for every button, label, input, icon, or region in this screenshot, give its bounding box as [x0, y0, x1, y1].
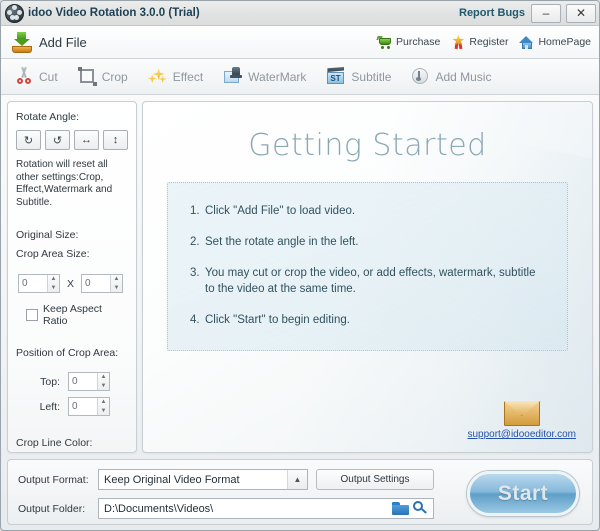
support-block: support@idooeditor.com [467, 401, 576, 440]
getting-started-panel: Getting Started 1. Click "Add File" to l… [142, 101, 593, 453]
step-number: 4. [190, 312, 205, 328]
output-bar: Output Format: Keep Original Video Forma… [7, 459, 593, 525]
register-label: Register [469, 36, 508, 48]
search-icon[interactable] [412, 501, 428, 517]
crop-size-row: ▲▼ X ▲▼ [18, 274, 128, 293]
rotation-note: Rotation will reset all other settings:C… [16, 159, 128, 209]
flip-vertical-icon[interactable]: ↕ [103, 130, 128, 150]
start-button-wrap: Start [464, 469, 582, 516]
step-text: You may cut or crop the video, or add ef… [205, 265, 545, 297]
step-number: 1. [190, 203, 205, 219]
settings-sidebar: Rotate Angle: ↻ ↺ ↔ ↕ Rotation will rese… [7, 101, 137, 453]
star-badge-icon [451, 35, 465, 49]
scissors-icon [15, 67, 34, 86]
rotate-button-group: ↻ ↺ ↔ ↕ [16, 130, 128, 150]
step-item: 2. Set the rotate angle in the left. [190, 234, 545, 250]
flip-horizontal-icon[interactable]: ↔ [74, 130, 99, 150]
crop-top-arrows[interactable]: ▲▼ [97, 373, 109, 390]
crop-top-stepper[interactable]: ▲▼ [68, 372, 110, 391]
title-bar-controls: Report Bugs – ✕ [459, 4, 596, 23]
step-item: 4. Click "Start" to begin editing. [190, 312, 545, 328]
minimize-button[interactable]: – [531, 4, 561, 23]
tool-watermark-label: WaterMark [248, 70, 306, 84]
homepage-link[interactable]: HomePage [519, 35, 591, 49]
output-fields: Output Format: Keep Original Video Forma… [18, 469, 454, 519]
output-settings-button[interactable]: Output Settings [316, 469, 434, 490]
crop-height-input[interactable] [82, 275, 110, 292]
step-text: Set the rotate angle in the left. [205, 234, 545, 250]
crop-left-input[interactable] [69, 398, 97, 415]
step-item: 3. You may cut or crop the video, or add… [190, 265, 545, 297]
support-email-link[interactable]: support@idooeditor.com [467, 429, 576, 440]
tool-effect[interactable]: Effect [140, 64, 211, 89]
film-reel-icon [5, 4, 24, 23]
tool-add-music-label: Add Music [435, 70, 491, 84]
folder-icon[interactable] [392, 502, 409, 515]
output-format-row: Output Format: Keep Original Video Forma… [18, 469, 454, 490]
tool-subtitle[interactable]: ST Subtitle [318, 64, 399, 89]
crop-width-stepper[interactable]: ▲▼ [18, 274, 60, 293]
clapperboard-icon: ST [326, 67, 346, 86]
header-links: Purchase Register HomePage [377, 35, 591, 49]
step-number: 3. [190, 265, 205, 297]
crop-left-arrows[interactable]: ▲▼ [97, 398, 109, 415]
start-button-label: Start [498, 482, 548, 506]
add-file-icon [11, 31, 33, 53]
output-format-dropdown[interactable]: Keep Original Video Format ▲ [98, 469, 308, 490]
crop-top-label: Top: [16, 376, 68, 388]
output-format-label: Output Format: [18, 474, 90, 486]
rotate-angle-label: Rotate Angle: [16, 111, 128, 123]
tool-crop-label: Crop [102, 70, 128, 84]
tool-cut-label: Cut [39, 70, 58, 84]
original-size-label: Original Size: [16, 229, 128, 241]
application-window: idoo Video Rotation 3.0.0 (Trial) Report… [0, 0, 600, 531]
register-link[interactable]: Register [451, 35, 508, 49]
crop-width-arrows[interactable]: ▲▼ [47, 275, 59, 292]
crop-frame-icon [78, 67, 97, 86]
tool-crop[interactable]: Crop [70, 64, 136, 89]
window-title: idoo Video Rotation 3.0.0 (Trial) [28, 7, 200, 19]
output-folder-row: Output Folder: D:\Documents\Videos\ [18, 498, 454, 519]
homepage-label: HomePage [538, 36, 591, 48]
output-folder-label: Output Folder: [18, 503, 90, 515]
crop-left-row: Left: ▲▼ [16, 397, 128, 416]
crop-height-arrows[interactable]: ▲▼ [110, 275, 122, 292]
tool-effect-label: Effect [173, 70, 203, 84]
crop-top-input[interactable] [69, 373, 97, 390]
tool-subtitle-label: Subtitle [351, 70, 391, 84]
add-file-bar: Add File Purchase Register HomePage [1, 26, 599, 59]
step-number: 2. [190, 234, 205, 250]
size-separator: X [67, 278, 74, 290]
title-bar: idoo Video Rotation 3.0.0 (Trial) Report… [1, 1, 599, 26]
watermark-stamp-icon [223, 67, 243, 86]
keep-aspect-ratio-checkbox[interactable] [26, 309, 38, 321]
steps-box: 1. Click "Add File" to load video. 2. Se… [167, 182, 568, 351]
crop-height-stepper[interactable]: ▲▼ [81, 274, 123, 293]
close-button[interactable]: ✕ [566, 4, 596, 23]
add-file-label: Add File [39, 35, 87, 50]
output-folder-input[interactable]: D:\Documents\Videos\ [98, 498, 434, 519]
keep-aspect-ratio-row[interactable]: Keep Aspect Ratio [26, 303, 128, 327]
rotate-right-icon[interactable]: ↻ [16, 130, 41, 150]
home-icon [519, 35, 534, 49]
step-item: 1. Click "Add File" to load video. [190, 203, 545, 219]
crop-line-color-label: Crop Line Color: [16, 437, 128, 449]
tool-add-music[interactable]: Add Music [403, 64, 499, 89]
report-bugs-link[interactable]: Report Bugs [459, 7, 525, 19]
output-folder-value: D:\Documents\Videos\ [99, 503, 392, 515]
rotate-left-icon[interactable]: ↺ [45, 130, 70, 150]
music-note-icon [411, 67, 430, 86]
crop-area-size-label: Crop Area Size: [16, 248, 128, 260]
crop-left-stepper[interactable]: ▲▼ [68, 397, 110, 416]
tool-menu: Cut Crop Effect WaterMark ST Subtitle [1, 59, 599, 95]
step-text: Click "Start" to begin editing. [205, 312, 545, 328]
add-file-button[interactable]: Add File [11, 31, 87, 53]
purchase-link[interactable]: Purchase [377, 35, 440, 49]
crop-top-row: Top: ▲▼ [16, 372, 128, 391]
crop-left-label: Left: [16, 401, 68, 413]
step-text: Click "Add File" to load video. [205, 203, 545, 219]
content-area: Rotate Angle: ↻ ↺ ↔ ↕ Rotation will rese… [1, 95, 599, 453]
envelope-icon [504, 401, 540, 426]
start-button[interactable]: Start [467, 471, 579, 516]
crop-width-input[interactable] [19, 275, 47, 292]
keep-aspect-ratio-label: Keep Aspect Ratio [43, 303, 128, 327]
purchase-label: Purchase [396, 36, 440, 48]
tool-watermark[interactable]: WaterMark [215, 64, 314, 89]
tool-cut[interactable]: Cut [7, 64, 66, 89]
output-format-value: Keep Original Video Format [99, 474, 287, 486]
position-of-crop-area-label: Position of Crop Area: [16, 347, 128, 359]
sparkle-icon [148, 67, 168, 86]
page-title: Getting Started [143, 128, 592, 163]
chevron-up-icon[interactable]: ▲ [287, 470, 307, 489]
cart-icon [377, 35, 392, 49]
